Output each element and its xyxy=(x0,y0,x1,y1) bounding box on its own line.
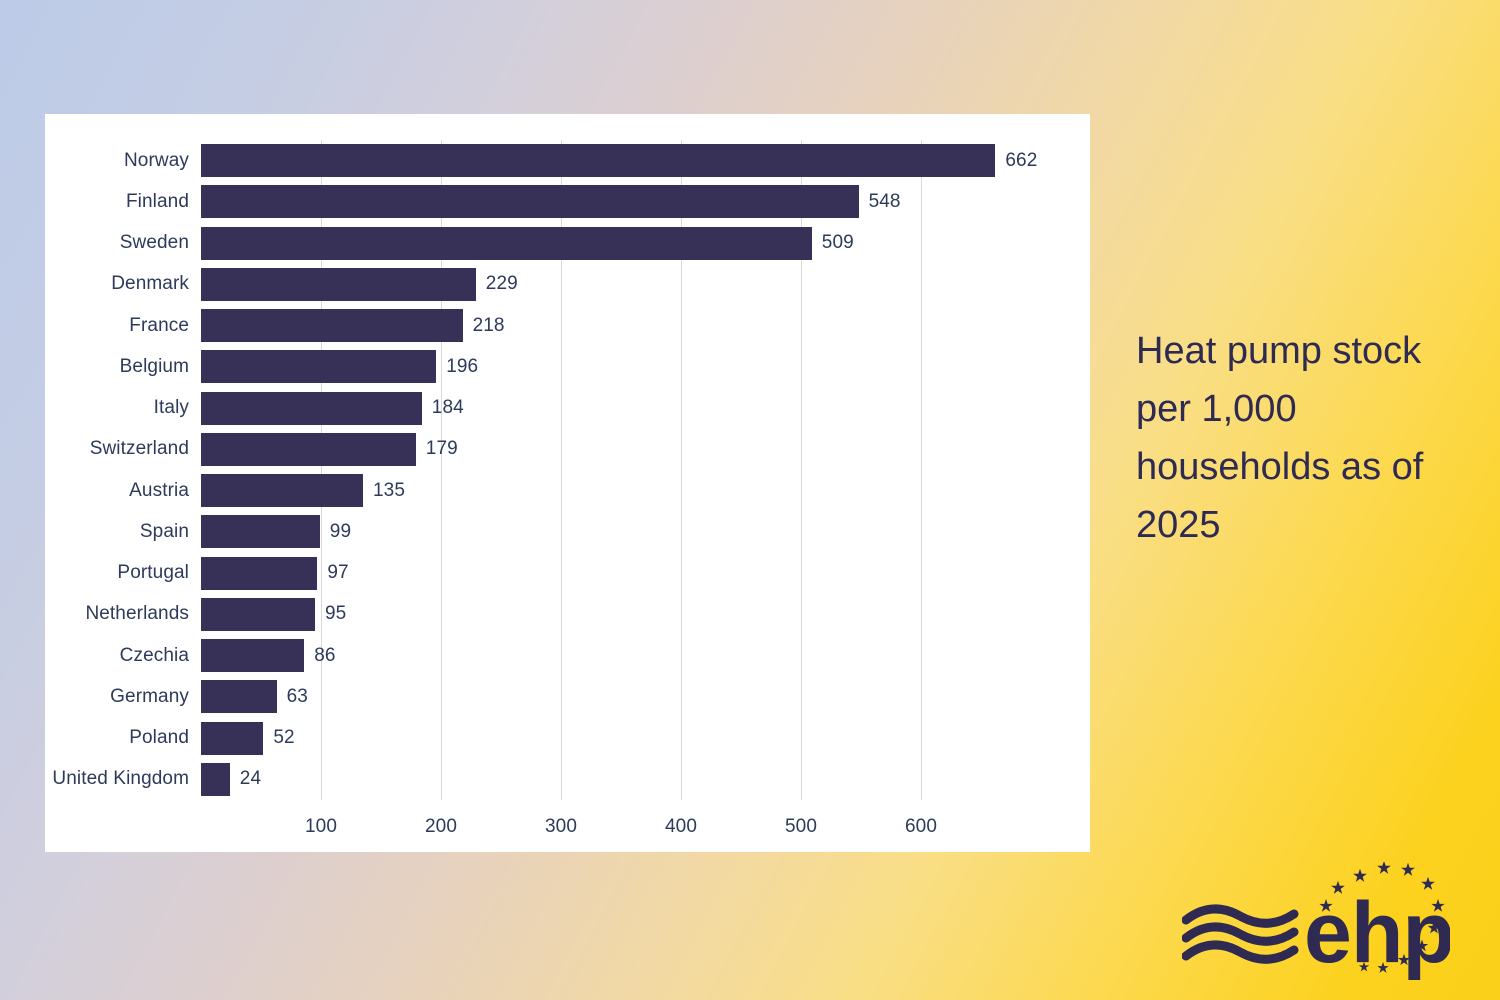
bar-value-label: 99 xyxy=(330,521,351,543)
bar[interactable] xyxy=(201,680,277,713)
bar[interactable] xyxy=(201,392,422,425)
category-label: Portugal xyxy=(117,562,189,584)
bar-value-label: 218 xyxy=(473,315,505,337)
bar[interactable] xyxy=(201,144,995,177)
bar-row: Portugal97 xyxy=(201,557,1041,590)
category-label: Germany xyxy=(110,686,189,708)
bar-value-label: 52 xyxy=(273,727,294,749)
bar-row: Poland52 xyxy=(201,722,1041,755)
x-tick-label: 300 xyxy=(545,816,577,838)
x-tick-label: 100 xyxy=(305,816,337,838)
chart-panel: Norway662Finland548Sweden509Denmark229Fr… xyxy=(45,114,1090,852)
category-label: Spain xyxy=(140,521,189,543)
ehpa-logo: ehpa xyxy=(1182,862,1450,984)
bar-value-label: 24 xyxy=(240,768,261,790)
x-tick-label: 500 xyxy=(785,816,817,838)
x-tick-label: 400 xyxy=(665,816,697,838)
bar[interactable] xyxy=(201,722,263,755)
category-label: Poland xyxy=(129,727,189,749)
bar-row: Germany63 xyxy=(201,680,1041,713)
bar-row: Spain99 xyxy=(201,515,1041,548)
category-label: Sweden xyxy=(120,232,189,254)
bar[interactable] xyxy=(201,309,463,342)
category-label: Norway xyxy=(124,150,189,172)
bar[interactable] xyxy=(201,185,859,218)
page-title: Heat pump stock per 1,000 households as … xyxy=(1136,322,1466,554)
x-tick-label: 600 xyxy=(905,816,937,838)
bar-row: Finland548 xyxy=(201,185,1041,218)
poster-canvas: Norway662Finland548Sweden509Denmark229Fr… xyxy=(0,0,1500,1000)
bar-row: Czechia86 xyxy=(201,639,1041,672)
bar-row: Netherlands95 xyxy=(201,598,1041,631)
category-label: Switzerland xyxy=(90,438,189,460)
bar-value-label: 548 xyxy=(869,191,901,213)
category-label: United Kingdom xyxy=(52,768,189,790)
bar-row: Italy184 xyxy=(201,392,1041,425)
bar-value-label: 179 xyxy=(426,438,458,460)
bar[interactable] xyxy=(201,433,416,466)
bar-value-label: 63 xyxy=(287,686,308,708)
wave-lines-icon xyxy=(1186,909,1294,959)
category-label: Italy xyxy=(154,397,189,419)
category-label: Belgium xyxy=(120,356,189,378)
category-label: France xyxy=(129,315,189,337)
bar-row: Austria135 xyxy=(201,474,1041,507)
bar[interactable] xyxy=(201,227,812,260)
category-label: Netherlands xyxy=(85,603,189,625)
bar-row: Denmark229 xyxy=(201,268,1041,301)
category-label: Denmark xyxy=(111,273,189,295)
plot-area: Norway662Finland548Sweden509Denmark229Fr… xyxy=(201,140,1041,800)
bar-value-label: 95 xyxy=(325,603,346,625)
bar-row: Norway662 xyxy=(201,144,1041,177)
bar-value-label: 509 xyxy=(822,232,854,254)
category-label: Finland xyxy=(126,191,189,213)
bar-value-label: 135 xyxy=(373,480,405,502)
category-label: Czechia xyxy=(120,645,189,667)
bar[interactable] xyxy=(201,515,320,548)
bar[interactable] xyxy=(201,350,436,383)
bar[interactable] xyxy=(201,763,230,796)
bar-row: Sweden509 xyxy=(201,227,1041,260)
category-label: Austria xyxy=(129,480,189,502)
bar-rows-group: Norway662Finland548Sweden509Denmark229Fr… xyxy=(201,140,1041,800)
bar-row: United Kingdom24 xyxy=(201,763,1041,796)
bar-value-label: 229 xyxy=(486,273,518,295)
bar-value-label: 184 xyxy=(432,397,464,419)
bar-value-label: 86 xyxy=(314,645,335,667)
bar-row: Switzerland179 xyxy=(201,433,1041,466)
bar[interactable] xyxy=(201,268,476,301)
bar[interactable] xyxy=(201,598,315,631)
bar-value-label: 196 xyxy=(446,356,478,378)
bar[interactable] xyxy=(201,639,304,672)
bar-value-label: 662 xyxy=(1005,150,1037,172)
bar-row: Belgium196 xyxy=(201,350,1041,383)
bar[interactable] xyxy=(201,557,317,590)
bar-value-label: 97 xyxy=(327,562,348,584)
x-tick-label: 200 xyxy=(425,816,457,838)
bar-row: France218 xyxy=(201,309,1041,342)
bar[interactable] xyxy=(201,474,363,507)
